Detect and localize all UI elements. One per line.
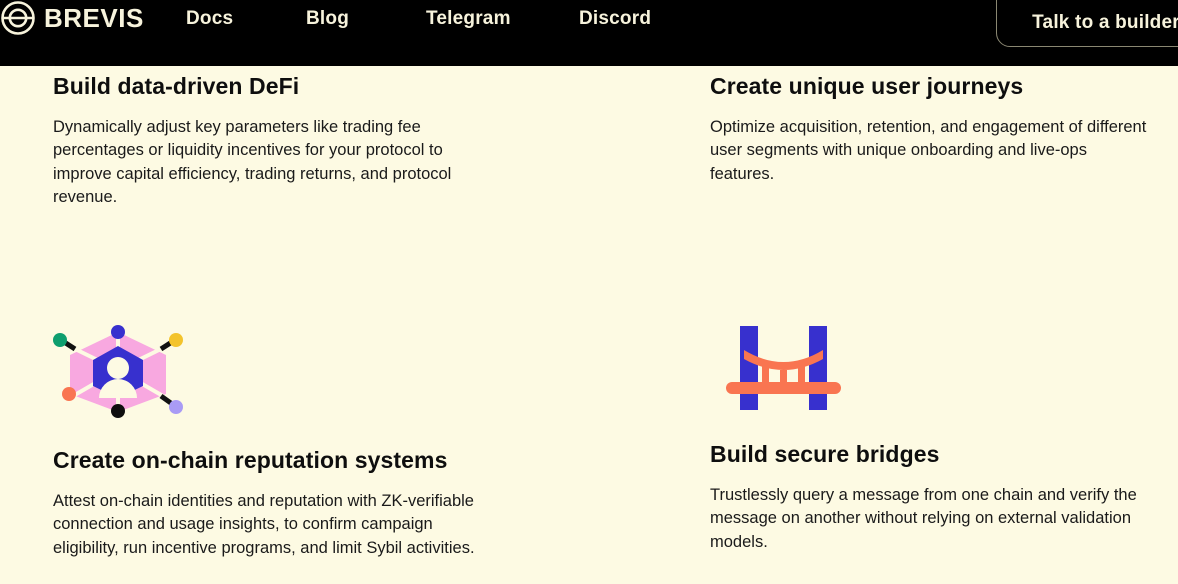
- node-bottom-right: [169, 400, 183, 414]
- talk-to-a-builder-button[interactable]: Talk to a builder: [996, 0, 1178, 47]
- card-icon-wrapper: [710, 324, 1155, 412]
- nav-item-discord[interactable]: Discord: [579, 7, 651, 31]
- brand-logo-text: BREVIS: [44, 0, 144, 36]
- card-description: Attest on-chain identities and reputatio…: [53, 490, 503, 560]
- card-description: Dynamically adjust key parameters like t…: [53, 116, 498, 209]
- card-description: Optimize acquisition, retention, and eng…: [710, 116, 1155, 186]
- node-bottom-left: [62, 387, 76, 401]
- card-title: Create on-chain reputation systems: [53, 446, 503, 474]
- talk-to-a-builder-label: Talk to a builder: [1032, 12, 1178, 34]
- card-title: Build secure bridges: [710, 440, 1155, 468]
- nav-item-telegram[interactable]: Telegram: [426, 7, 511, 31]
- card-title: Create unique user journeys: [710, 72, 1155, 100]
- card-build-secure-bridges: Build secure bridges Trustlessly query a…: [710, 324, 1155, 554]
- site-header: BREVIS Docs Blog Telegram Discord Talk t…: [0, 0, 1178, 66]
- card-description: Trustlessly query a message from one cha…: [710, 484, 1155, 554]
- nav-item-docs[interactable]: Docs: [186, 7, 233, 31]
- card-create-on-chain-reputation-systems: Create on-chain reputation systems Attes…: [53, 324, 503, 560]
- card-icon-wrapper: [53, 324, 503, 418]
- brand-logo[interactable]: BREVIS: [0, 0, 144, 36]
- card-title: Build data-driven DeFi: [53, 72, 498, 100]
- feature-cards-section: Build data-driven DeFi Dynamically adjus…: [0, 66, 1178, 584]
- node-top-left: [53, 333, 67, 347]
- bridge-icon: [726, 324, 841, 412]
- node-top-right: [169, 333, 183, 347]
- card-build-data-driven-defi: Build data-driven DeFi Dynamically adjus…: [53, 72, 498, 209]
- brevis-logo-icon: [0, 0, 36, 36]
- reputation-network-hexagon-icon: [53, 324, 183, 418]
- node-bottom: [111, 404, 125, 418]
- node-top: [111, 325, 125, 339]
- card-create-unique-user-journeys: Create unique user journeys Optimize acq…: [710, 72, 1155, 186]
- nav-item-blog[interactable]: Blog: [306, 7, 349, 31]
